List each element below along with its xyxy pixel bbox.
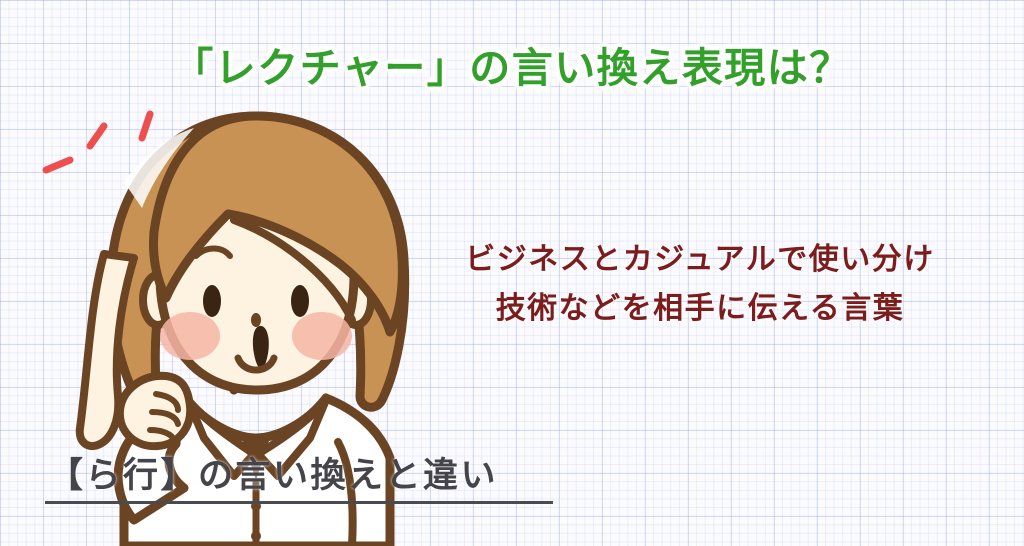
subtitle-line-1: ビジネスとカジュアルで使い分け [430, 236, 970, 285]
footer-caption: 【ら行】の言い換えと違い [48, 447, 498, 498]
page-title: 「レクチャー」の言い換え表現は？ [0, 34, 1024, 94]
cheek-right [292, 312, 352, 360]
subtitle-block: ビジネスとカジュアルで使い分け 技術などを相手に伝える言葉 [430, 236, 970, 333]
nose [251, 313, 261, 327]
motion-marks-icon [46, 114, 150, 170]
footer-underline [45, 501, 553, 504]
eyecatch-canvas: 「レクチャー」の言い換え表現は？ ビジネスとカジュアルで使い分け 技術などを相手… [0, 0, 1024, 546]
subtitle-line-2: 技術などを相手に伝える言葉 [430, 285, 970, 334]
eye-right-pupil [291, 285, 309, 317]
coat-button-lower [251, 531, 261, 541]
cheek-left [160, 312, 220, 360]
eye-left-pupil [203, 285, 221, 317]
